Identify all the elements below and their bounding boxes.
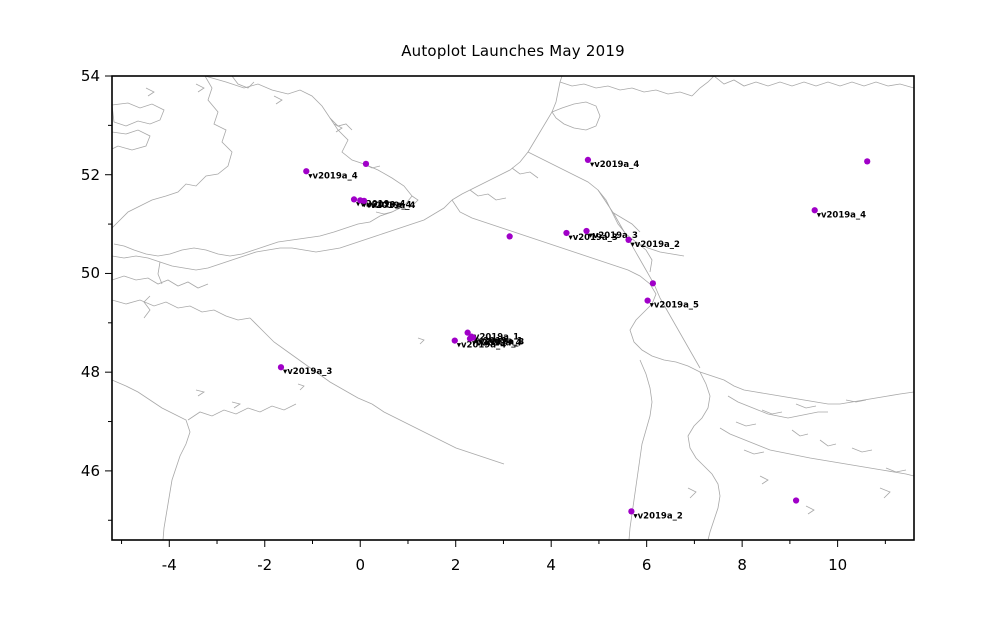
y-tick-label: 54: [55, 67, 100, 85]
x-tick-label: 6: [642, 556, 652, 574]
scatter-map-plot: ▾v2019a_4▾v2019a_4▾v2019a_4▾v2019a_4▾v20…: [0, 0, 1003, 633]
y-tick-label: 52: [55, 166, 100, 184]
scatter-point[interactable]: [793, 497, 799, 503]
scatter-point-label: ▾v2019a_4: [817, 210, 866, 220]
scatter-point-label: ▾v2019a_2: [631, 240, 680, 250]
scatter-point[interactable]: [363, 161, 369, 167]
x-tick-label: 0: [355, 556, 365, 574]
scatter-point-label: ▾v2019a_4: [366, 201, 415, 211]
scatter-point[interactable]: [650, 280, 656, 286]
y-major-ticks: [105, 76, 112, 471]
figure-canvas: Autoplot Launches May 2019: [0, 0, 1003, 633]
plot-background: [112, 76, 914, 540]
y-tick-label: 50: [55, 264, 100, 282]
x-tick-label: -2: [257, 556, 272, 574]
x-tick-label: 10: [828, 556, 847, 574]
y-tick-label: 46: [55, 462, 100, 480]
scatter-point-label: ▾v2019a_4: [590, 160, 639, 170]
x-tick-label: -4: [162, 556, 177, 574]
scatter-point-label: ▾v2019a_2: [633, 511, 682, 521]
x-tick-label: 2: [451, 556, 461, 574]
x-tick-label: 4: [546, 556, 556, 574]
scatter-point-label: ▾v2019a_4: [472, 339, 521, 349]
scatter-point[interactable]: [507, 233, 513, 239]
y-tick-label: 48: [55, 363, 100, 381]
scatter-point-label: ▾v2019a_4: [308, 171, 357, 181]
scatter-point-label: ▾v2019a_3: [283, 367, 332, 377]
x-tick-label: 8: [737, 556, 747, 574]
scatter-point-label: ▾v2019a_5: [650, 301, 699, 311]
scatter-point[interactable]: [864, 158, 870, 164]
